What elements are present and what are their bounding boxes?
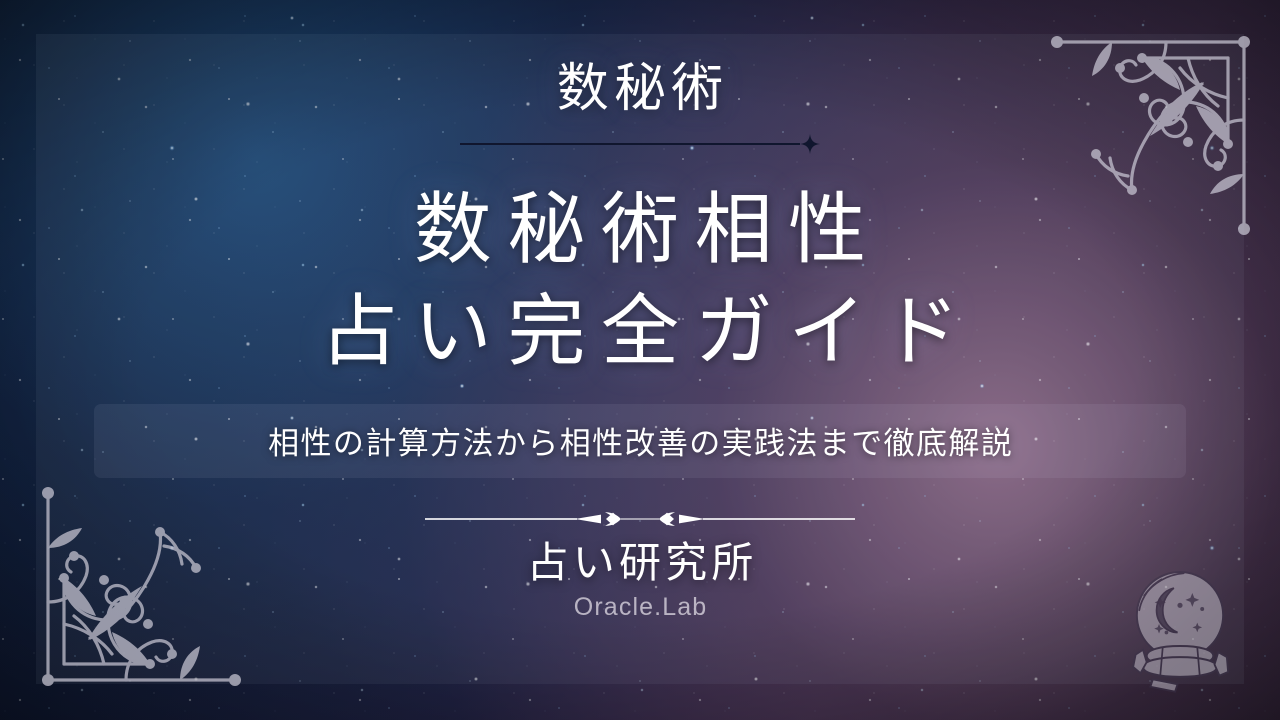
eyebrow-label: 数秘術	[552, 62, 729, 117]
thumbnail-slide: 数秘術 数秘術相性 占い完全ガイド 相性の計算方法から相性改善の実践法まで徹底解…	[0, 0, 1280, 720]
subtitle-text: 相性の計算方法から相性改善の実践法まで徹底解説	[267, 418, 1013, 463]
slide-content: 数秘術 数秘術相性 占い完全ガイド 相性の計算方法から相性改善の実践法まで徹底解…	[0, 0, 1280, 720]
author-block: 占い研究所 Oracle.Lab	[522, 540, 757, 623]
subtitle-band: 相性の計算方法から相性改善の実践法まで徹底解説	[94, 404, 1186, 478]
eyebrow-divider	[460, 133, 820, 155]
title-line-1: 数秘術相性	[305, 179, 976, 280]
main-title: 数秘術相性 占い完全ガイド	[305, 179, 976, 382]
title-line-2: 占い完全ガイド	[305, 281, 976, 382]
fleuron-divider-ornament	[425, 510, 855, 528]
eyebrow-divider-line	[460, 143, 800, 145]
author-name-ja: 占い研究所	[522, 540, 757, 590]
author-name-en: Oracle.Lab	[522, 593, 757, 622]
four-point-star-icon	[800, 134, 820, 154]
